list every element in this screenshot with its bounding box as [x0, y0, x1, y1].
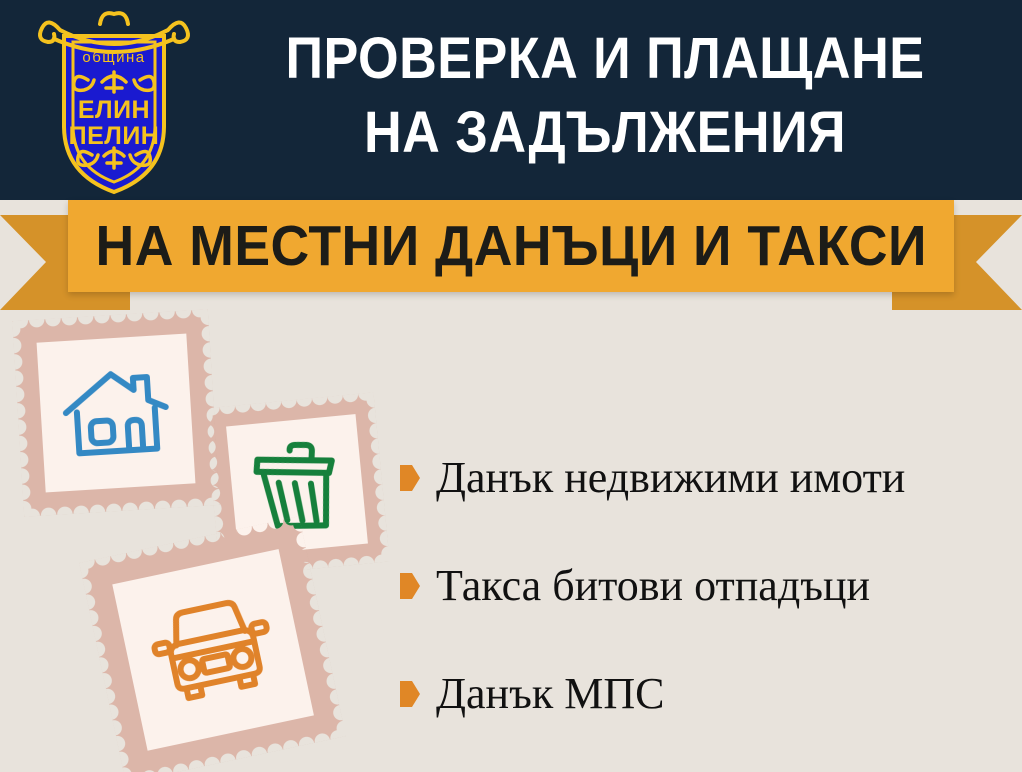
bullet-arrow-icon	[400, 573, 420, 599]
car-front-icon	[143, 590, 282, 709]
crest-center-curl	[100, 13, 128, 24]
crest-name-line2: ПЕЛИН	[69, 122, 160, 150]
bullet-arrow-icon	[400, 465, 420, 491]
crest-name-line1: ЕЛИН	[78, 96, 150, 124]
list-item[interactable]: Данък МПС	[400, 640, 1000, 748]
stamp-card-house	[12, 309, 220, 517]
house-icon	[58, 362, 174, 465]
stamp-inner-car	[112, 549, 314, 751]
page-title-line1: ПРОВЕРКА И ПЛАЩАНЕ	[285, 26, 924, 91]
municipality-crest-logo: община ЕЛИН ПЕЛИН	[30, 8, 198, 196]
list-item[interactable]: Данък недвижими имоти	[400, 424, 1000, 532]
crest-svg: община ЕЛИН ПЕЛИН	[30, 8, 198, 196]
page-title: ПРОВЕРКА И ПЛАЩАНЕ НА ЗАДЪЛЖЕНИЯ	[241, 22, 970, 170]
services-bullet-list: Данък недвижими имоти Такса битови отпад…	[400, 424, 1000, 748]
crest-municipality-word: община	[82, 49, 145, 66]
stamp-card-car	[79, 516, 346, 772]
list-item[interactable]: Такса битови отпадъци	[400, 532, 1000, 640]
ribbon-main-band: НА МЕСТНИ ДАНЪЦИ И ТАКСИ	[68, 200, 954, 292]
ribbon-text: НА МЕСТНИ ДАНЪЦИ И ТАКСИ	[95, 216, 926, 276]
list-item-label: Данък МПС	[436, 669, 664, 719]
subtitle-ribbon: НА МЕСТНИ ДАНЪЦИ И ТАКСИ	[0, 200, 1022, 310]
bullet-arrow-icon	[400, 681, 420, 707]
stamp-inner-house	[37, 334, 196, 493]
page-title-line2: НА ЗАДЪЛЖЕНИЯ	[241, 96, 970, 170]
list-item-label: Такса битови отпадъци	[436, 561, 870, 611]
poster-canvas: община ЕЛИН ПЕЛИН ПРОВЕРКА И ПЛАЩАНЕ НА …	[0, 0, 1022, 772]
list-item-label: Данък недвижими имоти	[436, 453, 905, 503]
